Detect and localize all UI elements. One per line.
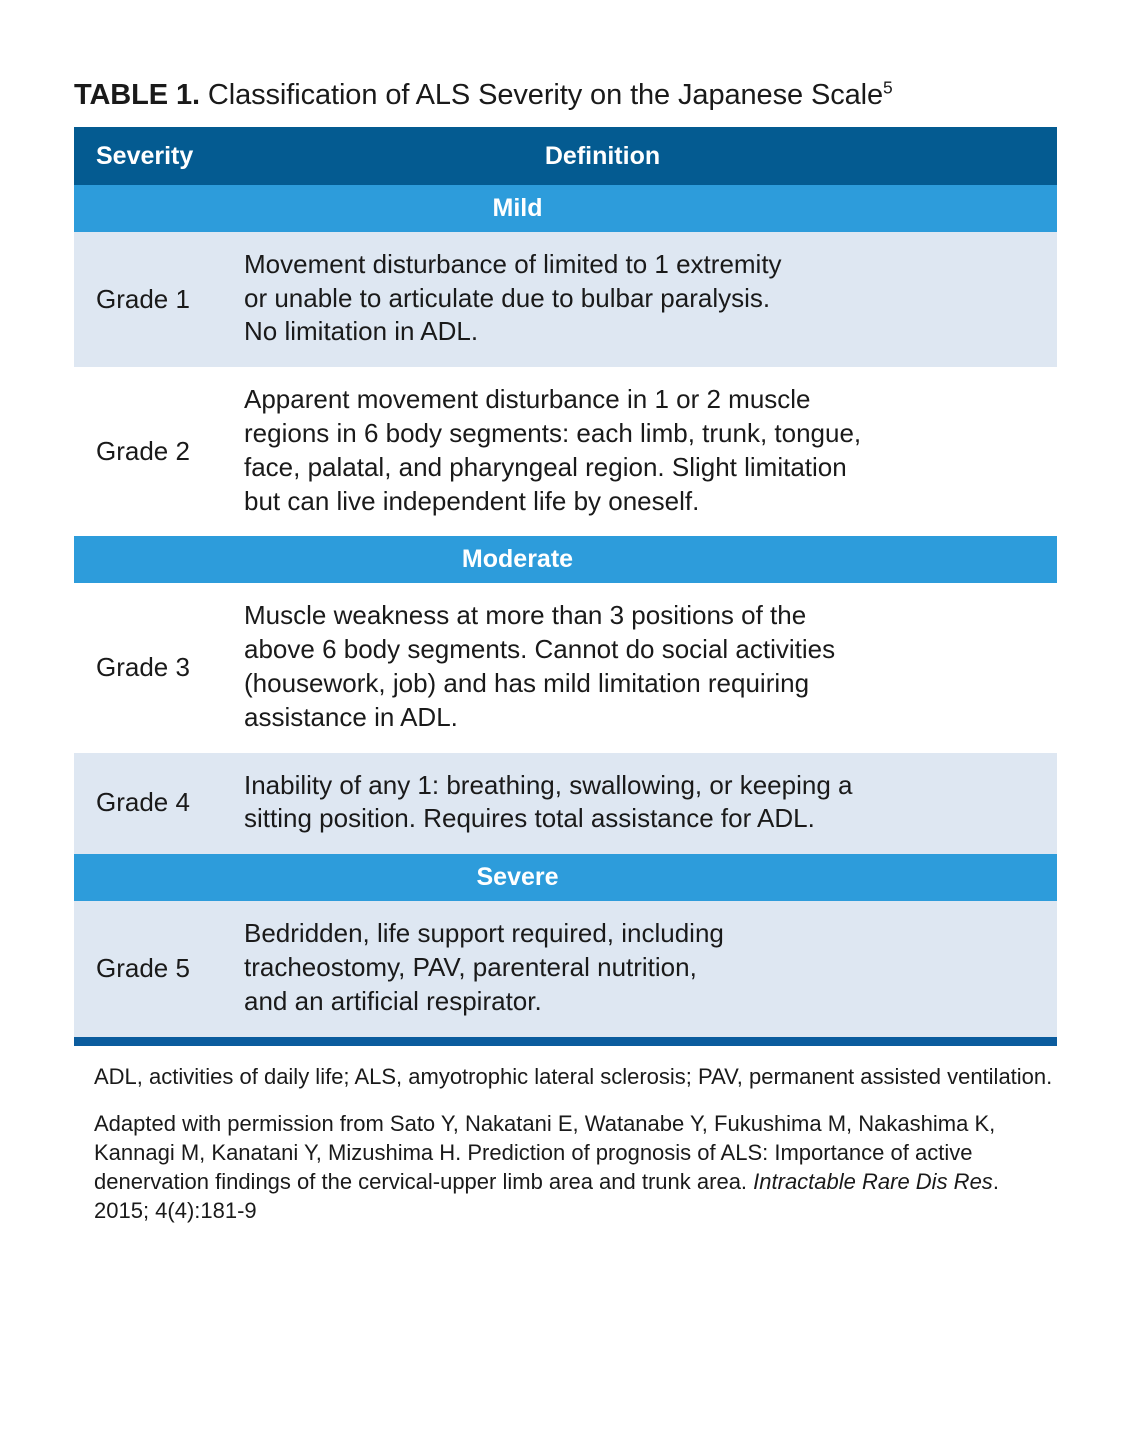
table-row: Grade 2 Apparent movement disturbance in… — [74, 367, 1057, 536]
section-band-mild: Mild — [74, 185, 1057, 232]
grade-definition: Inability of any 1: breathing, swallowin… — [244, 753, 1057, 855]
source-footnote: Adapted with permission from Sato Y, Nak… — [94, 1109, 1060, 1225]
definition-line: face, palatal, and pharyngeal region. Sl… — [244, 451, 1035, 485]
als-severity-table: Severity Definition Mild Grade 1 Movemen… — [74, 127, 1057, 1037]
definition-line: tracheostomy, PAV, parenteral nutrition, — [244, 951, 1035, 985]
grade-label: Grade 1 — [74, 232, 244, 367]
definition-line: or unable to articulate due to bulbar pa… — [244, 282, 1035, 316]
definition-line: sitting position. Requires total assista… — [244, 802, 1035, 836]
definition-line: Apparent movement disturbance in 1 or 2 … — [244, 383, 1035, 417]
section-band-label: Moderate — [74, 536, 1057, 583]
reference-superscript: 5 — [883, 77, 893, 97]
definition-line: Inability of any 1: breathing, swallowin… — [244, 769, 1035, 803]
abbreviations-footnote: ADL, activities of daily life; ALS, amyo… — [94, 1062, 1060, 1091]
definition-line: regions in 6 body segments: each limb, t… — [244, 417, 1035, 451]
table-caption: Classification of ALS Severity on the Ja… — [208, 79, 883, 111]
definition-line: Bedridden, life support required, includ… — [244, 917, 1035, 951]
table-row: Grade 3 Muscle weakness at more than 3 p… — [74, 583, 1057, 752]
grade-label: Grade 3 — [74, 583, 244, 752]
grade-label: Grade 2 — [74, 367, 244, 536]
section-band-severe: Severe — [74, 854, 1057, 901]
grade-definition: Bedridden, life support required, includ… — [244, 901, 1057, 1036]
table-row: Grade 4 Inability of any 1: breathing, s… — [74, 753, 1057, 855]
section-band-label: Mild — [74, 185, 1057, 232]
grade-definition: Movement disturbance of limited to 1 ext… — [244, 232, 1057, 367]
grade-definition: Apparent movement disturbance in 1 or 2 … — [244, 367, 1057, 536]
footnotes: ADL, activities of daily life; ALS, amyo… — [74, 1062, 1060, 1225]
table-bottom-rule — [74, 1037, 1057, 1046]
column-header-severity: Severity — [74, 127, 244, 185]
definition-line: above 6 body segments. Cannot do social … — [244, 633, 1035, 667]
table-header-row: Severity Definition — [74, 127, 1057, 185]
table-number-label: TABLE 1. — [74, 79, 200, 111]
table-body: Mild Grade 1 Movement disturbance of lim… — [74, 185, 1057, 1037]
grade-label: Grade 4 — [74, 753, 244, 855]
definition-line: and an artificial respirator. — [244, 985, 1035, 1019]
definition-line: (housework, job) and has mild limitation… — [244, 667, 1035, 701]
page-title: TABLE 1. Classification of ALS Severity … — [74, 0, 1057, 113]
grade-definition: Muscle weakness at more than 3 positions… — [244, 583, 1057, 752]
table-row: Grade 5 Bedridden, life support required… — [74, 901, 1057, 1036]
table-page: TABLE 1. Classification of ALS Severity … — [0, 0, 1131, 1432]
section-band-moderate: Moderate — [74, 536, 1057, 583]
definition-line: Muscle weakness at more than 3 positions… — [244, 599, 1035, 633]
definition-line: Movement disturbance of limited to 1 ext… — [244, 248, 1035, 282]
column-header-definition: Definition — [244, 127, 1057, 185]
journal-name: Intractable Rare Dis Res — [753, 1169, 993, 1194]
definition-line: assistance in ADL. — [244, 701, 1035, 735]
section-band-label: Severe — [74, 854, 1057, 901]
grade-label: Grade 5 — [74, 901, 244, 1036]
definition-line: No limitation in ADL. — [244, 315, 1035, 349]
table-row: Grade 1 Movement disturbance of limited … — [74, 232, 1057, 367]
definition-line: but can live independent life by oneself… — [244, 485, 1035, 519]
